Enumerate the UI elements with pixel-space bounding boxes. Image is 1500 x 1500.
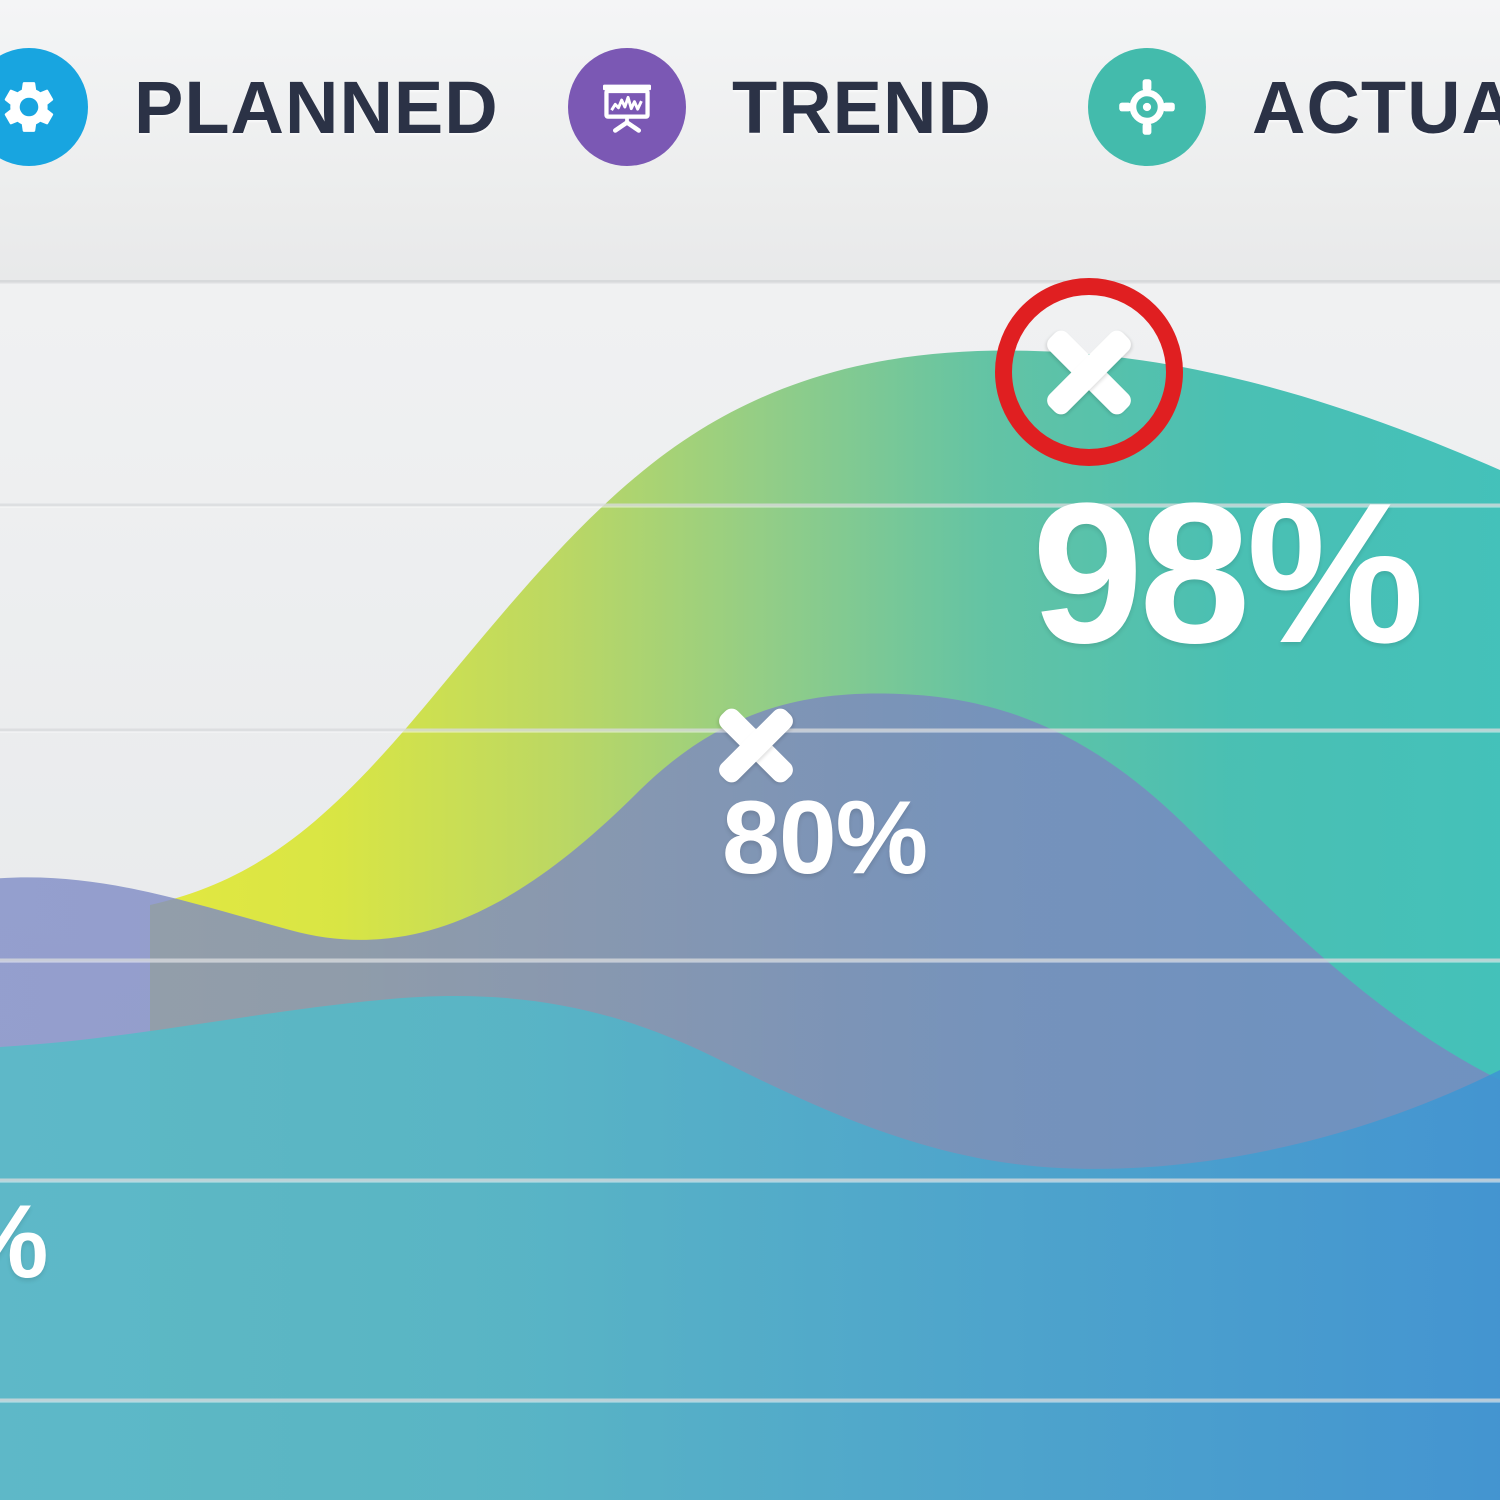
legend-label-planned: PLANNED (134, 65, 499, 150)
gear-icon (0, 48, 88, 166)
value-label-trend: 80% (722, 786, 927, 890)
value-label-actual: 98% (1032, 474, 1420, 674)
x-marker-icon (1039, 322, 1139, 422)
chart-canvas: PLANNED TREND (0, 0, 1500, 1500)
presentation-chart-icon (568, 48, 686, 166)
legend-item-planned[interactable]: PLANNED (0, 48, 499, 166)
legend-label-actual: ACTUAL (1252, 65, 1500, 150)
x-marker-icon-secondary (711, 700, 801, 790)
value-label-clipped: % (0, 1190, 48, 1294)
legend-item-trend[interactable]: TREND (568, 48, 992, 166)
legend-label-trend: TREND (732, 65, 992, 150)
crosshair-target-icon (1088, 48, 1206, 166)
legend-item-actual[interactable]: ACTUAL (1088, 48, 1500, 166)
chart-legend: PLANNED TREND (0, 0, 1500, 282)
